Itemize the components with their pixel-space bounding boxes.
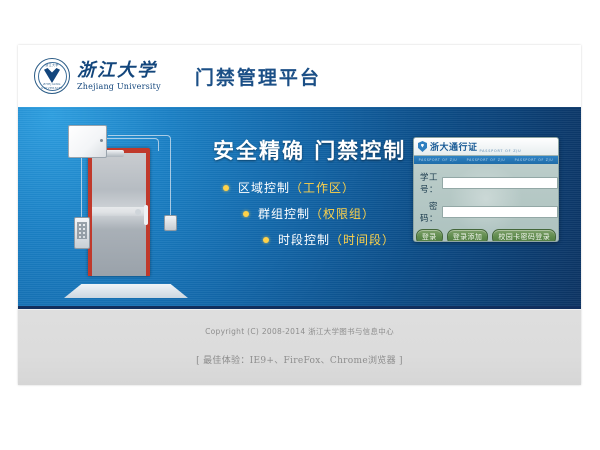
bullet-dot-icon [223, 185, 229, 191]
bullet-label: 区域控制 [238, 179, 290, 196]
bullet-dot-icon [263, 237, 269, 243]
login-panel-title: 浙大通行证 [430, 140, 478, 153]
banner-slogan: 安全精确 门禁控制 [213, 135, 406, 165]
door-knob-icon [135, 209, 141, 215]
username-row: 学工号： [420, 171, 552, 195]
login-panel-subtitle: PASSPORT OF ZJU [480, 149, 522, 155]
site-header: 浙江大学 ZHEJIANG UNIVERSITY 浙江大学 Zhejiang U… [18, 45, 581, 107]
strip-text: PASSPORT OF ZJU [419, 158, 458, 162]
login-form: 学工号： 密 码： 登录 登录添加 校园卡密码登录 [414, 164, 558, 242]
seal-top-text: 浙江大学 [35, 63, 69, 67]
logo-text-block: 浙江大学 Zhejiang University [77, 62, 161, 91]
bullet-label: 时段控制 [278, 231, 330, 248]
password-label: 密 码： [420, 200, 442, 224]
hero-banner: 安全精确 门禁控制 区域控制 （工作区） 群组控制 （权限组） 时段控制 （时间… [18, 107, 581, 309]
bullet-label: 群组控制 [258, 205, 310, 222]
passport-watermark-strip: PASSPORT OF ZJU PASSPORT OF ZJU PASSPORT… [414, 156, 558, 164]
seal-bottom-text: ZHEJIANG UNIVERSITY [35, 82, 69, 90]
keypad-keys [77, 222, 87, 239]
bullet-note: （时间段） [330, 231, 395, 248]
logo-name-cn: 浙江大学 [77, 62, 161, 80]
university-logo[interactable]: 浙江大学 ZHEJIANG UNIVERSITY 浙江大学 Zhejiang U… [34, 58, 161, 94]
list-item: 区域控制 （工作区） [223, 179, 395, 196]
login-button[interactable]: 登录 [416, 229, 443, 242]
university-seal-icon: 浙江大学 ZHEJIANG UNIVERSITY [34, 58, 70, 94]
bullet-note: （权限组） [310, 205, 375, 222]
username-label: 学工号： [420, 171, 442, 195]
banner-bottom-edge [18, 306, 581, 309]
username-input[interactable] [442, 177, 558, 189]
keypad-reader-icon [74, 217, 90, 249]
site-footer: Copyright (C) 2008-2014 浙江大学图书与信息中心 [ 最佳… [18, 309, 581, 385]
password-input[interactable] [442, 206, 558, 218]
card-reader-icon [164, 215, 177, 231]
campus-card-login-button[interactable]: 校园卡密码登录 [492, 229, 556, 242]
door-access-illustration [60, 123, 192, 298]
door-handle-icon [144, 205, 148, 225]
browser-support-text: [ 最佳体验：IE9+、FireFox、Chrome浏览器 ] [196, 353, 403, 366]
list-item: 时段控制 （时间段） [263, 231, 395, 248]
page-container: 浙江大学 ZHEJIANG UNIVERSITY 浙江大学 Zhejiang U… [18, 45, 581, 385]
strip-text: PASSPORT OF ZJU [467, 158, 506, 162]
bullet-note: （工作区） [290, 179, 355, 196]
floor-plate [64, 284, 188, 298]
page-title: 门禁管理平台 [195, 63, 321, 90]
login-add-button[interactable]: 登录添加 [447, 229, 489, 242]
login-panel: 浙大通行证 PASSPORT OF ZJU PASSPORT OF ZJU PA… [413, 137, 559, 242]
controller-box-icon [68, 125, 107, 158]
wire-keypad-icon [81, 156, 83, 217]
feature-bullet-list: 区域控制 （工作区） 群组控制 （权限组） 时段控制 （时间段） [223, 179, 395, 257]
password-row: 密 码： [420, 200, 552, 224]
logo-name-en: Zhejiang University [77, 83, 161, 91]
bullet-dot-icon [243, 211, 249, 217]
list-item: 群组控制 （权限组） [243, 205, 395, 222]
login-panel-titlebar: 浙大通行证 PASSPORT OF ZJU [414, 138, 558, 156]
shield-icon [418, 141, 427, 152]
copyright-text: Copyright (C) 2008-2014 浙江大学图书与信息中心 [205, 326, 394, 337]
strip-text: PASSPORT OF ZJU [515, 158, 554, 162]
login-button-group: 登录 登录添加 校园卡密码登录 [420, 229, 552, 242]
